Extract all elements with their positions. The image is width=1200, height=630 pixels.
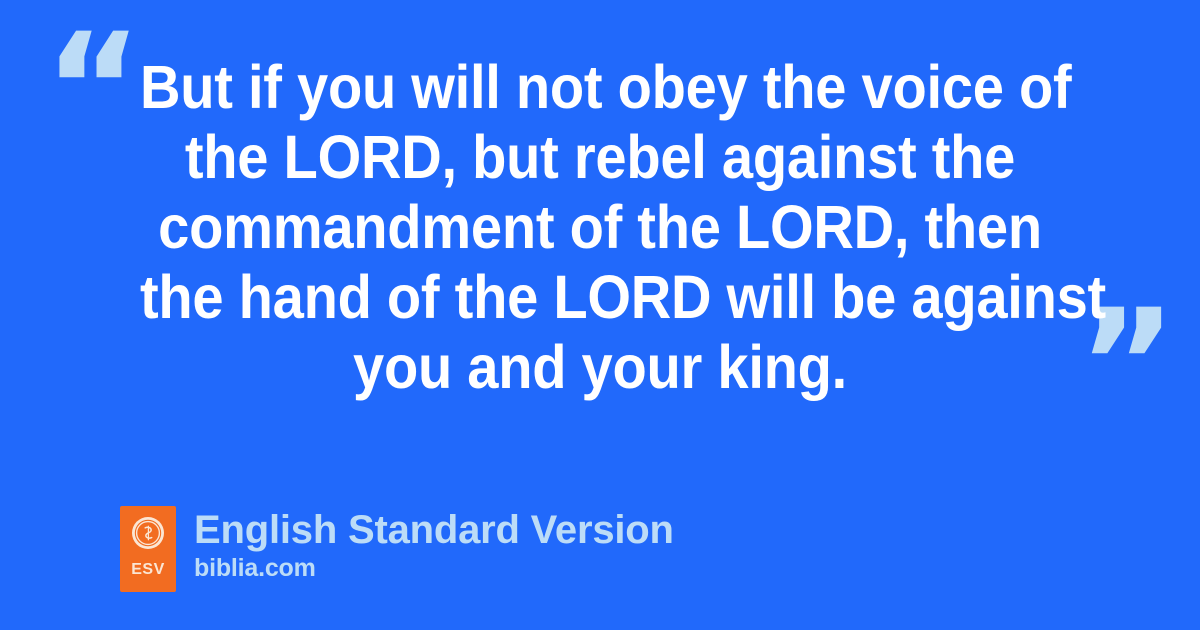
- attribution-text: English Standard Version biblia.com: [194, 506, 674, 583]
- verse-line: you and your king.: [140, 332, 1060, 402]
- esv-badge: ESV: [120, 506, 176, 592]
- bible-version-label: English Standard Version: [194, 508, 674, 552]
- verse-line: the LORD, but rebel against the: [140, 122, 1060, 192]
- verse-line: But if you will not obey the voice of: [140, 52, 1060, 122]
- attribution: ESV English Standard Version biblia.com: [120, 506, 674, 592]
- verse-quote-card: “ ” But if you will not obey the voice o…: [0, 0, 1200, 630]
- verse-text: But if you will not obey the voice of th…: [100, 52, 1100, 402]
- verse-line: the hand of the LORD will be against: [140, 262, 1060, 332]
- esv-abbreviation-label: ESV: [131, 562, 165, 578]
- site-name-label: biblia.com: [194, 553, 674, 583]
- verse-line: commandment of the LORD, then: [140, 192, 1060, 262]
- esv-seal-icon: [131, 516, 165, 550]
